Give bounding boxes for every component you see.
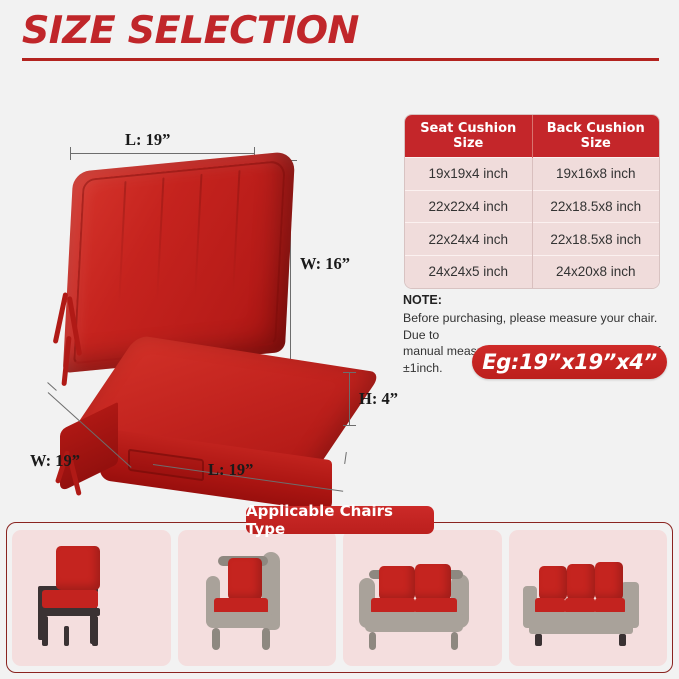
chair-photo-wicker-loveseat	[343, 530, 502, 666]
leg	[619, 634, 626, 646]
column-header-seat: Seat Cushion Size	[405, 115, 532, 158]
sofa-base	[529, 612, 633, 634]
tick-right	[344, 452, 347, 464]
header: SIZE SELECTION	[0, 0, 679, 72]
back-cushion	[379, 566, 415, 600]
dimension-line-seat-height	[349, 372, 350, 426]
back-cushion	[539, 566, 567, 600]
cell-back-size: 24x20x8 inch	[532, 255, 659, 288]
cell-seat-size: 24x24x5 inch	[405, 255, 532, 288]
back-cushion	[56, 546, 100, 590]
table-row: 22x24x4 inch 22x18.5x8 inch	[405, 223, 659, 256]
tick-top	[343, 372, 356, 373]
size-table: Seat Cushion Size Back Cushion Size 19x1…	[404, 114, 660, 289]
page-title: SIZE SELECTION	[22, 8, 359, 52]
leg	[64, 626, 69, 646]
leg	[451, 632, 458, 650]
label-back-width: W: 16”	[300, 254, 350, 274]
table-header-row: Seat Cushion Size Back Cushion Size	[405, 115, 659, 158]
cell-back-size: 19x16x8 inch	[532, 158, 659, 191]
label-seat-length: L: 19”	[208, 460, 253, 480]
chair-photo-wicker-armchair	[178, 530, 337, 666]
table-body: 19x19x4 inch 19x16x8 inch 22x22x4 inch 2…	[405, 158, 659, 289]
tie-strap	[61, 336, 71, 386]
cell-back-size: 22x18.5x8 inch	[532, 223, 659, 256]
dimension-line-back-length	[70, 153, 255, 154]
leg	[535, 634, 542, 646]
note-line-1: Before purchasing, please measure your c…	[403, 310, 679, 343]
leg	[42, 616, 48, 646]
leg	[212, 628, 220, 650]
tick-bottom	[343, 425, 356, 426]
cushion-illustration: L: 19” W: 16” H: 4” L: 19” W: 19”	[0, 76, 400, 506]
wicker-seat-base	[210, 612, 272, 628]
chair-photo-dark-frame-armchair	[12, 530, 171, 666]
cell-seat-size: 19x19x4 inch	[405, 158, 532, 191]
leg	[369, 632, 376, 650]
applicable-chairs-row	[12, 530, 667, 666]
back-cushion-graphic	[63, 151, 295, 373]
table-row: 19x19x4 inch 19x16x8 inch	[405, 158, 659, 191]
seat-frame	[40, 608, 100, 616]
seat-cushion	[42, 590, 98, 608]
column-header-back: Back Cushion Size	[532, 115, 659, 158]
tick-left	[70, 147, 71, 160]
label-seat-height: H: 4”	[359, 389, 398, 409]
example-size-badge: Eg:19”x19”x4”	[472, 345, 667, 379]
applicable-chairs-banner: Applicable Chairs Type	[246, 506, 434, 534]
back-cushion	[567, 564, 595, 600]
label-back-length: L: 19”	[125, 130, 170, 150]
size-table-element: Seat Cushion Size Back Cushion Size 19x1…	[405, 115, 659, 288]
chair-photo-three-seat-sofa	[509, 530, 668, 666]
back-cushion	[415, 564, 451, 600]
leg	[262, 628, 270, 650]
note-title: NOTE:	[403, 293, 679, 307]
table-row: 22x22x4 inch 22x18.5x8 inch	[405, 190, 659, 223]
cell-back-size: 22x18.5x8 inch	[532, 190, 659, 223]
back-cushion-tie	[56, 292, 90, 388]
cell-seat-size: 22x22x4 inch	[405, 190, 532, 223]
table-row: 24x24x5 inch 24x20x8 inch	[405, 255, 659, 288]
table-head: Seat Cushion Size Back Cushion Size	[405, 115, 659, 158]
label-seat-width: W: 19”	[30, 451, 80, 471]
back-cushion	[595, 562, 623, 600]
back-cushion	[228, 558, 262, 600]
back-cushion-piping	[73, 160, 286, 364]
title-underline	[22, 58, 659, 61]
leg	[92, 616, 98, 646]
wicker-seat-base	[365, 612, 463, 632]
cell-seat-size: 22x24x4 inch	[405, 223, 532, 256]
